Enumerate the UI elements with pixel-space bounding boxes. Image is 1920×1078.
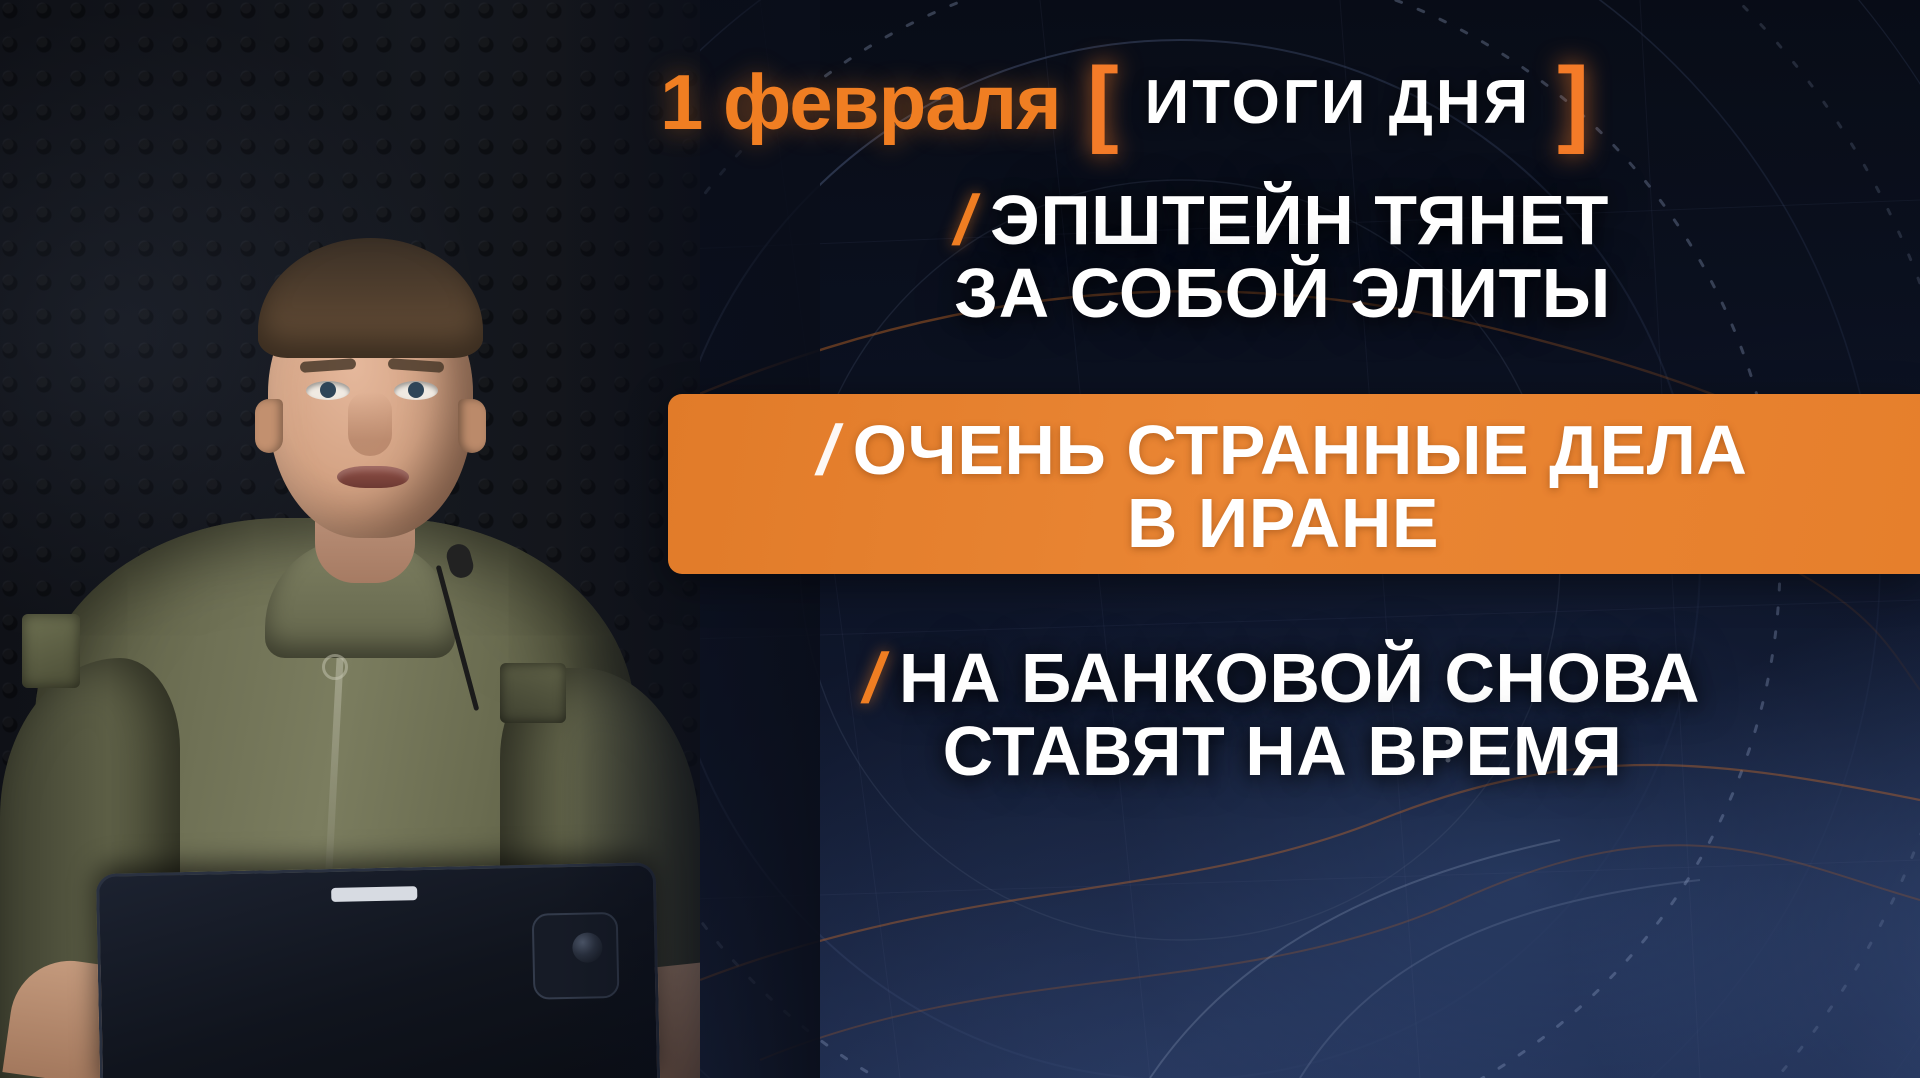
headline-1-line-1: /ЭПШТЕЙН ТЯНЕТ xyxy=(660,184,1905,257)
segment-title: ИТОГИ ДНЯ xyxy=(1145,67,1532,138)
headline-2-line-1: /ОЧЕНЬ СТРАННЫЕ ДЕЛА xyxy=(668,414,1898,487)
headline-item-1: /ЭПШТЕЙН ТЯНЕТ ЗА СОБОЙ ЭЛИТЫ xyxy=(660,184,1905,330)
bracket-close-icon: ] xyxy=(1557,59,1589,145)
headline-item-2: /ОЧЕНЬ СТРАННЫЕ ДЕЛА В ИРАНЕ xyxy=(668,414,1898,560)
headline-1-text-line-1: ЭПШТЕЙН ТЯНЕТ xyxy=(990,181,1609,259)
headline-3-line-1: /НА БАНКОВОЙ СНОВА xyxy=(660,642,1905,715)
headline-3-text-line-2: СТАВЯТ НА ВРЕМЯ xyxy=(660,715,1905,788)
headline-item-3: /НА БАНКОВОЙ СНОВА СТАВЯТ НА ВРЕМЯ xyxy=(660,642,1905,788)
slash-marker-icon: / xyxy=(948,184,983,257)
slash-marker-icon: / xyxy=(857,642,892,715)
broadcast-date: 1 февраля xyxy=(660,57,1061,148)
headline-1-text-line-2: ЗА СОБОЙ ЭЛИТЫ xyxy=(660,257,1905,330)
bracket-open-icon: [ xyxy=(1087,59,1119,145)
headline-2-text-line-1: ОЧЕНЬ СТРАННЫЕ ДЕЛА xyxy=(853,411,1748,489)
header-bar: 1 февраля [ ИТОГИ ДНЯ ] xyxy=(660,46,1900,158)
thumbnail-canvas: Dnipro River xyxy=(0,0,1920,1078)
headline-2-text-line-2: В ИРАНЕ xyxy=(668,487,1898,560)
slash-marker-icon: / xyxy=(811,414,846,487)
headline-3-text-line-1: НА БАНКОВОЙ СНОВА xyxy=(899,639,1700,717)
text-overlay: 1 февраля [ ИТОГИ ДНЯ ] /ЭПШТЕЙН ТЯНЕТ З… xyxy=(0,0,1920,1078)
